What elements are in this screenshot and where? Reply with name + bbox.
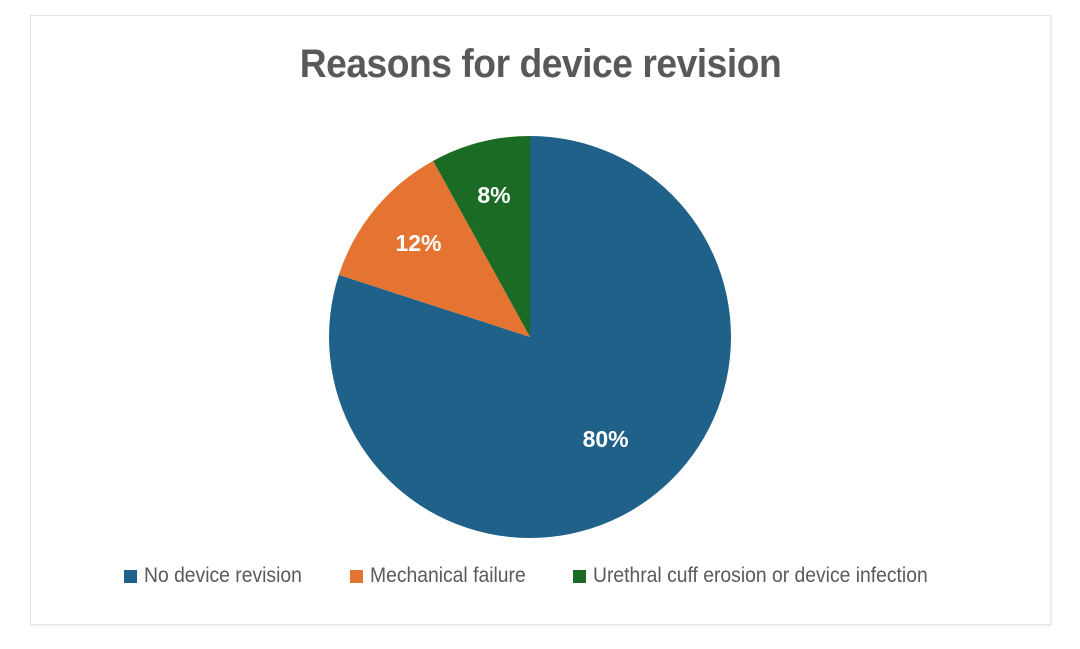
legend-label-urethral-cuff-erosion: Urethral cuff erosion or device infectio…: [593, 564, 928, 588]
legend-item-urethral-cuff-erosion[interactable]: Urethral cuff erosion or device infectio…: [573, 564, 957, 588]
pie-chart: 80% 12% 8%: [314, 121, 746, 553]
legend-label-mechanical-failure: Mechanical failure: [370, 564, 526, 588]
chart-legend: No device revision Mechanical failure Ur…: [31, 564, 1050, 588]
data-label-urethral-cuff-erosion: 8%: [477, 182, 510, 208]
legend-item-mechanical-failure[interactable]: Mechanical failure: [350, 564, 539, 588]
data-label-mechanical-failure: 12%: [395, 230, 441, 256]
legend-item-no-device-revision[interactable]: No device revision: [124, 564, 316, 588]
legend-label-no-device-revision: No device revision: [144, 564, 302, 588]
data-label-no-device-revision: 80%: [583, 426, 629, 452]
legend-swatch-icon-urethral-cuff-erosion: [573, 570, 586, 583]
legend-swatch-icon-no-device-revision: [124, 570, 137, 583]
pie-slices: [329, 136, 731, 538]
pie-chart-plot-area: 80% 12% 8%: [31, 16, 1050, 624]
chart-frame: Reasons for device revision 80% 12% 8% N…: [30, 15, 1051, 625]
legend-swatch-icon-mechanical-failure: [350, 570, 363, 583]
